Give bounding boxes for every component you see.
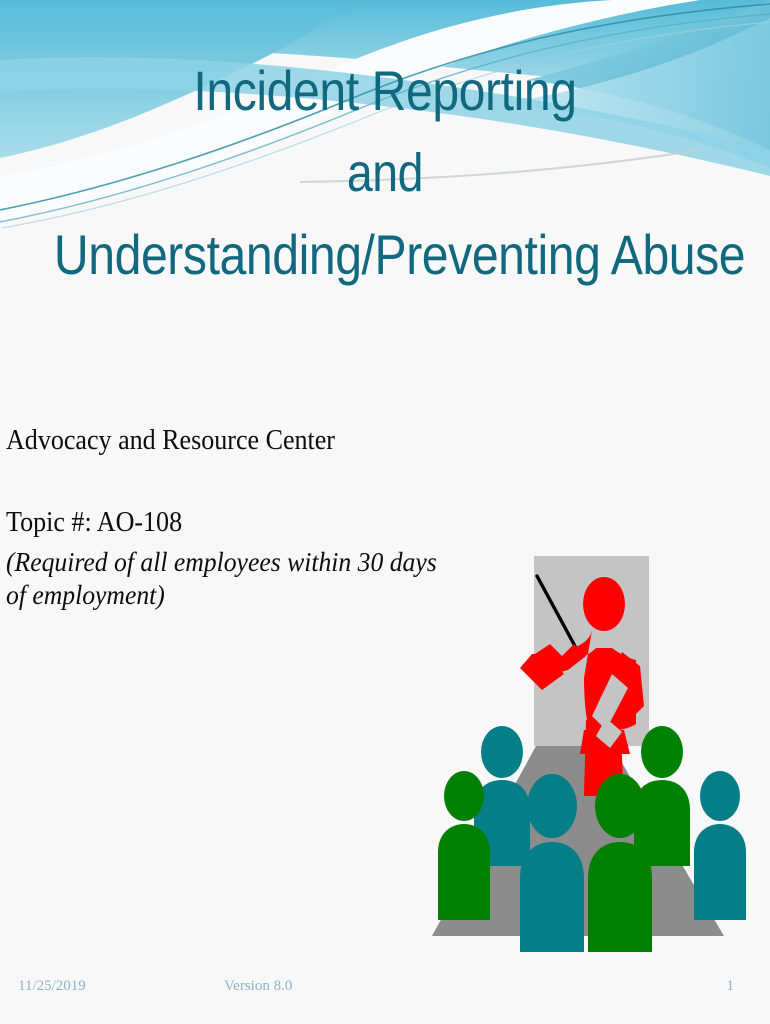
audience-head bbox=[444, 771, 484, 821]
footer-version: Version 8.0 bbox=[224, 978, 292, 995]
audience-shoulders bbox=[694, 824, 746, 920]
topic-number: Topic #: AO-108 bbox=[6, 506, 443, 540]
title-line-1: Incident Reporting bbox=[54, 50, 716, 132]
organization-name: Advocacy and Resource Center bbox=[6, 424, 443, 458]
audience-shoulders bbox=[588, 842, 652, 952]
audience-head bbox=[595, 774, 645, 838]
title-line-2: and bbox=[54, 132, 716, 214]
audience-far-left bbox=[438, 771, 490, 920]
audience-head bbox=[527, 774, 577, 838]
audience-front-left bbox=[520, 774, 584, 952]
audience-shoulders bbox=[438, 824, 490, 920]
slide-body: Advocacy and Resource Center Topic #: AO… bbox=[6, 424, 476, 612]
audience-shoulders bbox=[520, 842, 584, 952]
slide-footer: 11/25/2019 Version 8.0 1 bbox=[0, 978, 770, 1004]
footer-page-number: 1 bbox=[727, 978, 735, 995]
audience-front-right bbox=[588, 774, 652, 952]
presentation-slide: Incident Reporting and Understanding/Pre… bbox=[0, 0, 770, 1024]
audience-head bbox=[481, 726, 523, 778]
slide-title: Incident Reporting and Understanding/Pre… bbox=[0, 50, 770, 296]
audience-far-right bbox=[694, 771, 746, 920]
title-line-3: Understanding/Preventing Abuse bbox=[54, 214, 716, 296]
requirement-note: (Required of all employees within 30 day… bbox=[6, 546, 462, 612]
audience-head bbox=[641, 726, 683, 778]
footer-date: 11/25/2019 bbox=[18, 978, 86, 995]
presenter-head bbox=[583, 577, 625, 631]
audience-head bbox=[700, 771, 740, 821]
